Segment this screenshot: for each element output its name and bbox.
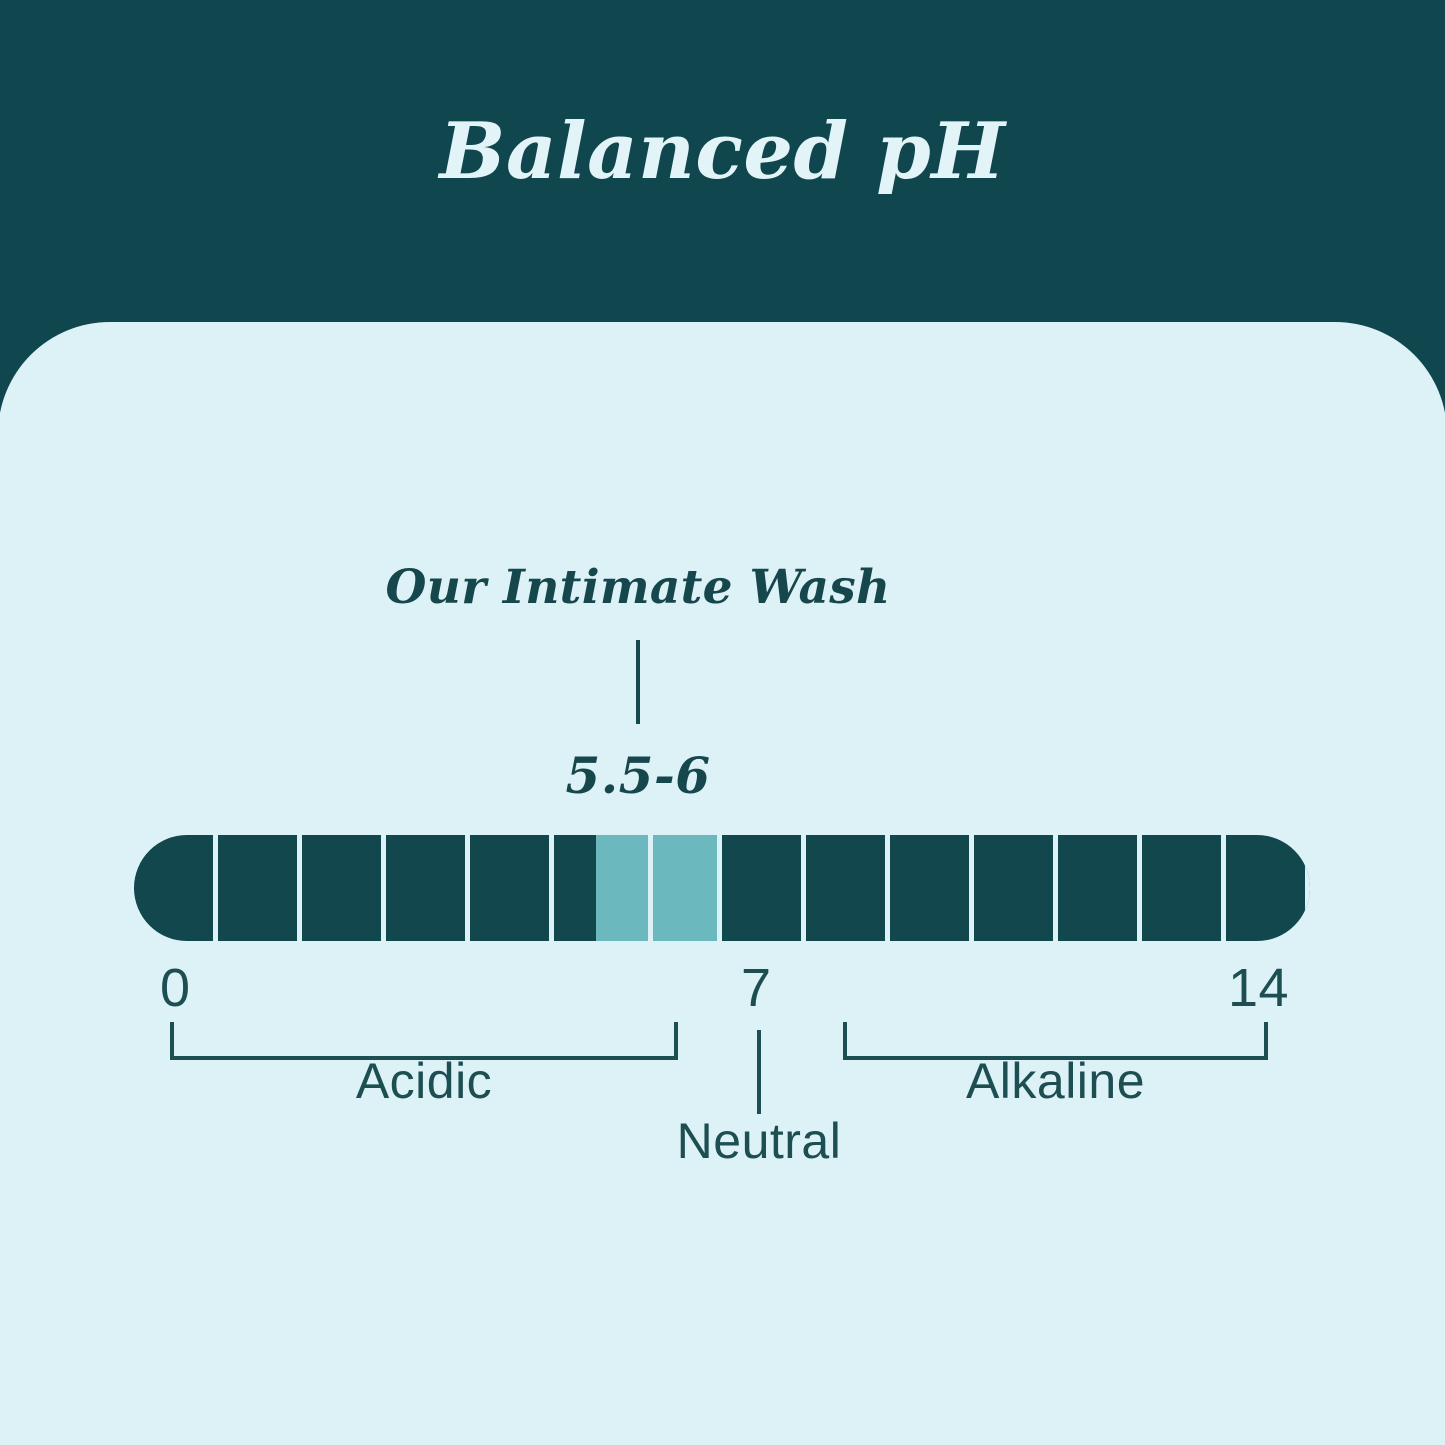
ph-infographic: { "header": { "title": "Balanced pH" }, …	[0, 0, 1445, 1445]
product-callout-pointer-line	[636, 640, 640, 724]
ph-highlight-divider	[648, 835, 653, 941]
ph-segment	[1142, 835, 1226, 941]
neutral-pointer-line	[757, 1030, 761, 1114]
ph-segment	[806, 835, 890, 941]
ph-tick-7: 7	[741, 957, 772, 1019]
alkaline-range-label: Alkaline	[843, 1052, 1268, 1110]
ph-scale-bar-wrapper	[134, 835, 1310, 941]
page-title: Balanced pH	[440, 113, 1006, 217]
ph-scale-bar	[134, 835, 1310, 941]
ph-segment	[722, 835, 806, 941]
ph-scale-card: Our Intimate Wash 5.5-6	[0, 322, 1445, 1445]
ph-segment	[1226, 835, 1310, 941]
ph-segment	[470, 835, 554, 941]
ph-segment	[1058, 835, 1142, 941]
ph-tick-14: 14	[1228, 957, 1289, 1019]
header-band: Balanced pH	[0, 0, 1445, 330]
ph-tick-0: 0	[160, 957, 191, 1019]
product-callout: Our Intimate Wash 5.5-6	[0, 563, 1278, 805]
ph-highlight-band	[596, 835, 722, 941]
acidic-range-label: Acidic	[170, 1052, 678, 1110]
ph-segment	[218, 835, 302, 941]
neutral-label: Neutral	[599, 1112, 919, 1170]
product-ph-value: 5.5-6	[0, 746, 1278, 805]
ph-segment	[302, 835, 386, 941]
ph-segment	[890, 835, 974, 941]
ph-segment	[134, 835, 218, 941]
product-callout-label: Our Intimate Wash	[0, 563, 1278, 612]
ph-segment	[386, 835, 470, 941]
ph-segment	[974, 835, 1058, 941]
